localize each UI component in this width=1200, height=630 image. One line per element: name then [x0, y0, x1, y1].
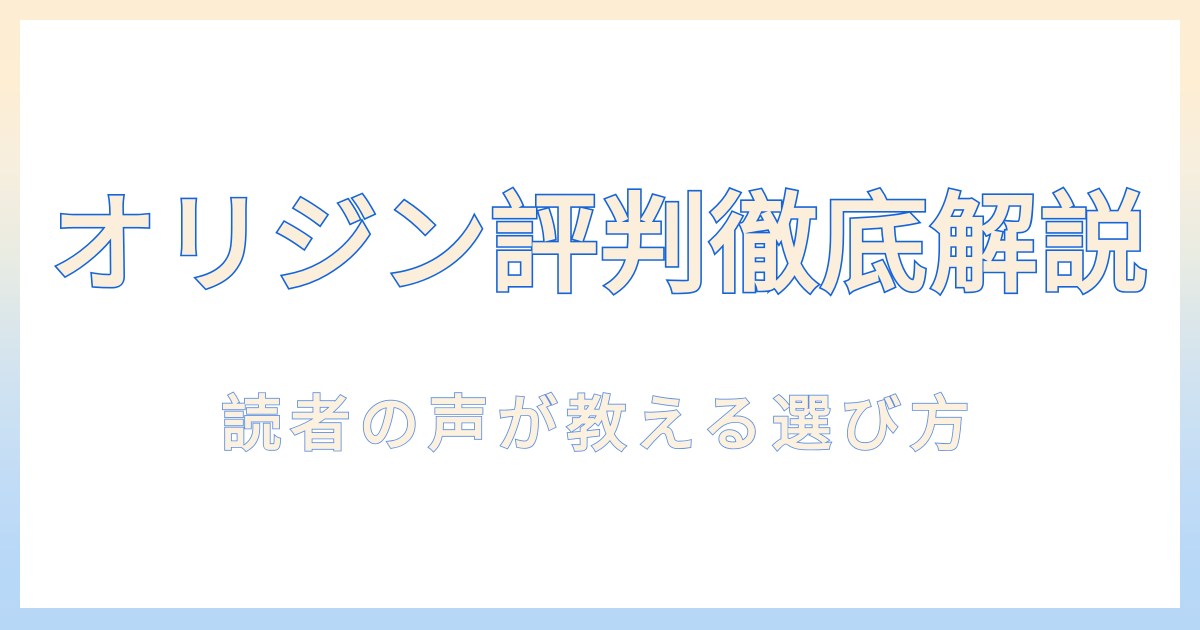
eyecatch-banner: オリジン評判徹底解説 読者の声が教える選び方 — [0, 0, 1200, 630]
headline-block: オリジン評判徹底解説 読者の声が教える選び方 — [20, 20, 1180, 608]
page-subtitle-text: 読者の声が教える選び方 — [221, 392, 978, 458]
page-title: オリジン評判徹底解説 — [20, 188, 1180, 305]
page-subtitle: 読者の声が教える選び方 — [20, 392, 1180, 458]
page-title-text: オリジン評判徹底解説 — [50, 188, 1150, 305]
banner-inner-stage: オリジン評判徹底解説 読者の声が教える選び方 — [20, 20, 1180, 608]
